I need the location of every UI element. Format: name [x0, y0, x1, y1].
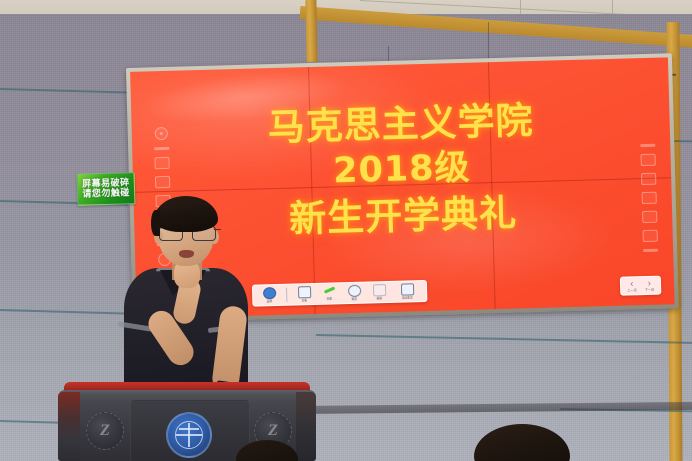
- toolbar-separator: [286, 288, 287, 302]
- bar-icon[interactable]: [640, 144, 655, 147]
- select-tool-icon: [262, 287, 275, 299]
- toolbar-item-whiteboard[interactable]: 白板: [294, 286, 314, 303]
- page-nav-widget[interactable]: ‹ 上一页 › 下一页: [620, 276, 662, 296]
- undo-tool-icon: [372, 284, 385, 296]
- note-icon[interactable]: [154, 157, 169, 169]
- toolbar-item-eraser[interactable]: 橡皮: [344, 285, 364, 302]
- toolbar-item-pen[interactable]: 画笔: [319, 286, 339, 301]
- university-seal-emblem: [166, 412, 212, 458]
- play-icon[interactable]: [155, 127, 168, 140]
- toolbar-label-exit: 退出批注: [402, 296, 413, 299]
- divider-icon: [154, 147, 169, 150]
- camera-icon[interactable]: [641, 173, 656, 185]
- seal-vertical-bar: [188, 423, 190, 447]
- panel-seam-horizontal: [133, 177, 671, 193]
- pen-tool-icon: [323, 286, 334, 296]
- whiteboard-tool-icon: [297, 286, 310, 298]
- panel-seam-vertical: [488, 62, 496, 309]
- exit-tool-icon: [400, 283, 413, 295]
- toolbar-label-whiteboard: 白板: [302, 299, 308, 302]
- slide-line-1: 马克思主义学院: [131, 93, 670, 155]
- seal-horizontal-bar: [179, 428, 199, 430]
- home-icon[interactable]: [642, 192, 657, 204]
- toolbar-label-eraser: 橡皮: [352, 298, 358, 301]
- monitor-icon[interactable]: [643, 230, 658, 242]
- panel-seam-vertical: [308, 67, 316, 314]
- toolbar-group-primary[interactable]: 选择: [256, 287, 282, 304]
- eraser-tool-icon: [347, 285, 360, 297]
- next-page-label: 下一页: [645, 289, 655, 292]
- screen-icon[interactable]: [641, 154, 656, 166]
- mouth: [179, 250, 194, 258]
- line-icon[interactable]: [643, 249, 658, 252]
- toolbar-group-tools[interactable]: 白板 画笔 橡皮 撤销: [291, 283, 423, 303]
- speaker-hair: [154, 196, 218, 232]
- toolbar-label-pen: 画笔: [327, 298, 333, 301]
- podium-side-right: [296, 392, 316, 461]
- prev-page-label: 上一页: [627, 289, 637, 292]
- glasses-temple-right: [214, 229, 221, 230]
- toolbar-item-exit[interactable]: 退出批注: [394, 283, 420, 300]
- lecture-hall-photo: 马克思主义学院 2018级 新生开学典礼: [0, 0, 692, 461]
- link-icon[interactable]: [155, 176, 170, 188]
- podium-side-left: [58, 392, 80, 461]
- chevron-left-icon: ‹: [630, 279, 633, 288]
- toolbar-item-select[interactable]: 选择: [259, 287, 279, 304]
- annotation-toolbar[interactable]: 选择 白板 画笔 橡皮: [252, 280, 428, 307]
- prev-page-button[interactable]: ‹ 上一页: [627, 279, 637, 292]
- down-icon[interactable]: [642, 211, 657, 223]
- next-page-button[interactable]: › 下一页: [644, 279, 654, 292]
- slide-line-2: 2018级: [132, 141, 671, 200]
- toolbar-label-select: 选择: [267, 300, 273, 303]
- podium-emblem-left: Z: [86, 412, 124, 450]
- chevron-right-icon: ›: [648, 279, 651, 288]
- toolbar-label-undo: 撤销: [377, 297, 383, 300]
- toolbar-item-undo[interactable]: 撤销: [369, 284, 389, 301]
- right-icon-strip[interactable]: [640, 144, 658, 252]
- wall-pillar-left: [305, 0, 317, 62]
